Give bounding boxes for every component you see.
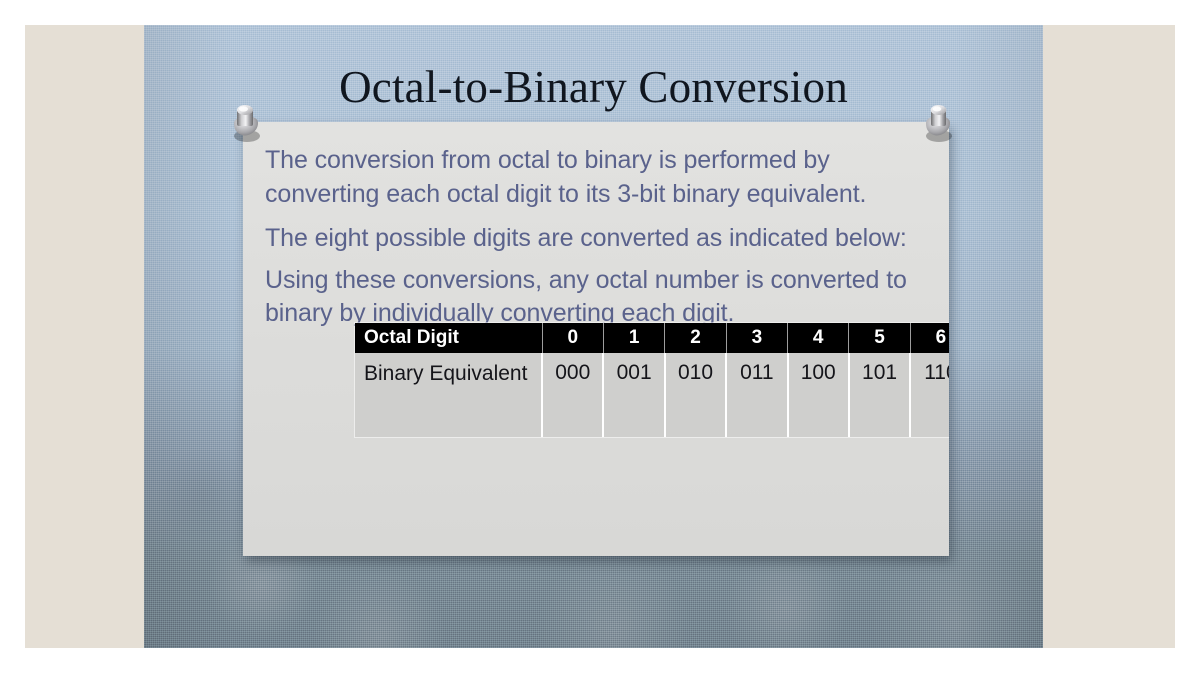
slide-title: Octal-to-Binary Conversion xyxy=(144,61,1043,113)
paragraph-intro: The conversion from octal to binary is p… xyxy=(265,144,933,211)
table-header-digit-6: 6 xyxy=(910,323,949,353)
octal-binary-conversion-table: Octal Digit 0 1 2 3 4 5 6 7 xyxy=(355,323,949,437)
pushpin-icon xyxy=(922,101,956,143)
paragraph-using-conversions: Using these conversions, any octal numbe… xyxy=(265,264,933,331)
table-header-digit-0: 0 xyxy=(542,323,603,353)
table-header-row: Octal Digit 0 1 2 3 4 5 6 7 xyxy=(355,323,949,353)
pushpin-icon xyxy=(228,101,262,143)
table-header-digit-5: 5 xyxy=(849,323,910,353)
table-header-digit-2: 2 xyxy=(665,323,726,353)
table-label-binary-equivalent: Binary Equivalent xyxy=(355,353,542,437)
table-row: Binary Equivalent 000 001 010 011 100 10… xyxy=(355,353,949,437)
table-cell-binary-4: 100 xyxy=(788,353,849,437)
slide-viewer: Octal-to-Binary Conversion The conversio… xyxy=(0,0,1200,675)
table-cell-binary-5: 101 xyxy=(849,353,910,437)
paragraph-eight-digits: The eight possible digits are converted … xyxy=(265,222,933,256)
table-header-digit-1: 1 xyxy=(603,323,664,353)
table-cell-binary-3: 011 xyxy=(726,353,787,437)
table-cell-binary-6: 110 xyxy=(910,353,949,437)
note-card: The conversion from octal to binary is p… xyxy=(243,122,949,556)
presentation-slide: Octal-to-Binary Conversion The conversio… xyxy=(144,25,1043,648)
table-header-digit-3: 3 xyxy=(726,323,787,353)
table-header-octal-digit: Octal Digit xyxy=(355,323,542,353)
table-cell-binary-1: 001 xyxy=(603,353,664,437)
table-cell-binary-0: 000 xyxy=(542,353,603,437)
note-card-text: The conversion from octal to binary is p… xyxy=(265,144,933,342)
table-cell-binary-2: 010 xyxy=(665,353,726,437)
table-header-digit-4: 4 xyxy=(788,323,849,353)
